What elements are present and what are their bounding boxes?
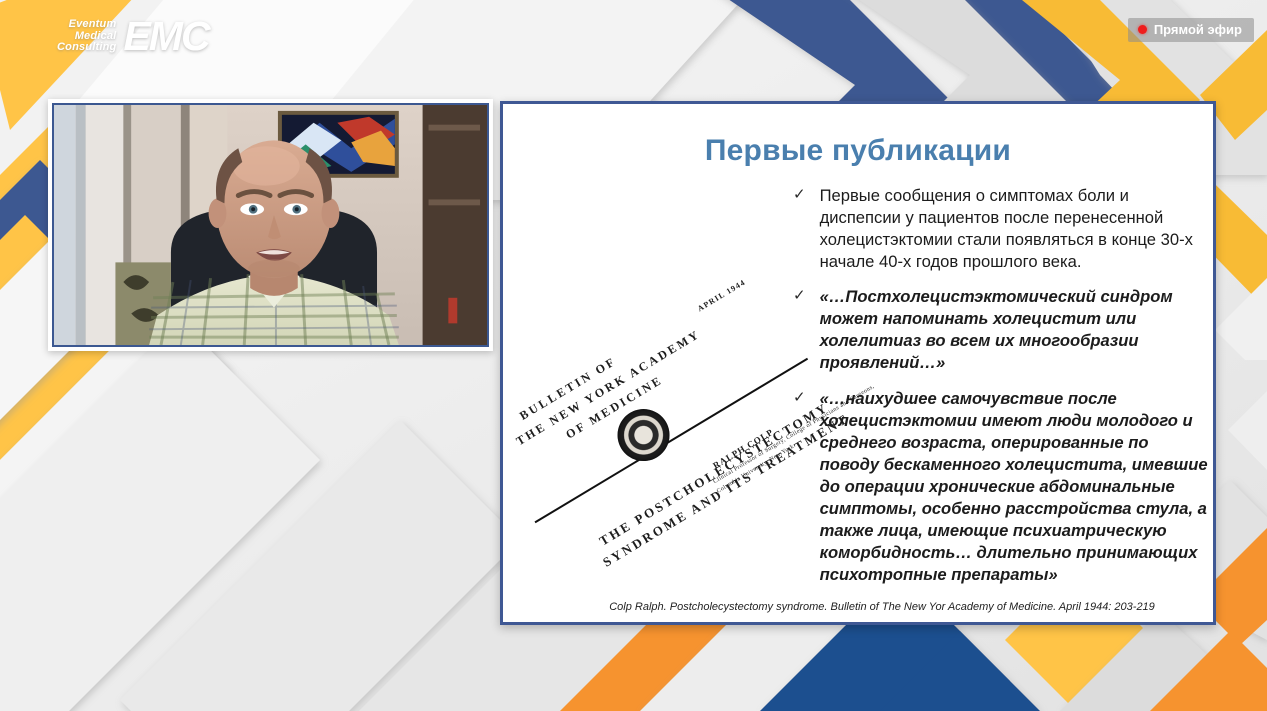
list-item: ✓ «…Постхолецистэктомический синдром мож… bbox=[793, 286, 1211, 374]
journal-date-line: APRIL 1944 bbox=[696, 278, 747, 314]
slide-body: BULLETIN OF THE NEW YORK ACADEMY OF MEDI… bbox=[511, 185, 1205, 615]
journal-author: RALPH COLP bbox=[711, 427, 775, 471]
presentation-slide[interactable]: Первые публикации BULLETIN OF THE NEW YO… bbox=[500, 101, 1216, 625]
brand-line-1: Eventum bbox=[69, 19, 117, 31]
brand-initials: EMC bbox=[123, 18, 208, 55]
slide-citation: Colp Ralph. Postcholecystectomy syndrome… bbox=[557, 601, 1207, 613]
brand-logo: Eventum Medical Consulting EMC bbox=[57, 18, 209, 55]
presenter-video-panel[interactable] bbox=[48, 99, 493, 351]
presenter-video-frame[interactable] bbox=[52, 103, 489, 347]
slide-bullet-list: ✓ Первые сообщения о симптомах боли и ди… bbox=[793, 185, 1211, 599]
live-status-badge: Прямой эфир bbox=[1128, 18, 1254, 42]
presenter-video-image bbox=[54, 105, 487, 345]
journal-medicine-line: OF MEDICINE bbox=[563, 373, 665, 443]
bullet-text: «…наихудшее самочувствие после холецистэ… bbox=[820, 388, 1211, 587]
journal-academy-line: THE NEW YORK ACADEMY bbox=[514, 327, 704, 449]
checkmark-icon: ✓ bbox=[793, 185, 806, 273]
journal-affiliation-line-2: Columbia University, New York bbox=[716, 444, 795, 495]
list-item: ✓ «…наихудшее самочувствие после холецис… bbox=[793, 388, 1211, 587]
checkmark-icon: ✓ bbox=[793, 286, 806, 374]
slide-title: Первые публикации bbox=[511, 134, 1205, 168]
academy-seal-icon bbox=[608, 399, 679, 470]
stream-stage: Eventum Medical Consulting EMC Прямой эф… bbox=[0, 0, 1267, 711]
journal-rule bbox=[535, 358, 809, 523]
checkmark-icon: ✓ bbox=[793, 388, 806, 587]
brand-wordmark: Eventum Medical Consulting bbox=[57, 19, 116, 55]
journal-bulletin-line: BULLETIN OF bbox=[517, 354, 619, 424]
brand-line-3: Consulting bbox=[57, 42, 116, 54]
live-dot-icon bbox=[1138, 25, 1147, 34]
live-status-label: Прямой эфир bbox=[1154, 22, 1242, 37]
bullet-text: «…Постхолецистэктомический синдром может… bbox=[820, 286, 1211, 374]
bullet-text: Первые сообщения о симптомах боли и дисп… bbox=[820, 185, 1211, 273]
list-item: ✓ Первые сообщения о симптомах боли и ди… bbox=[793, 185, 1211, 273]
